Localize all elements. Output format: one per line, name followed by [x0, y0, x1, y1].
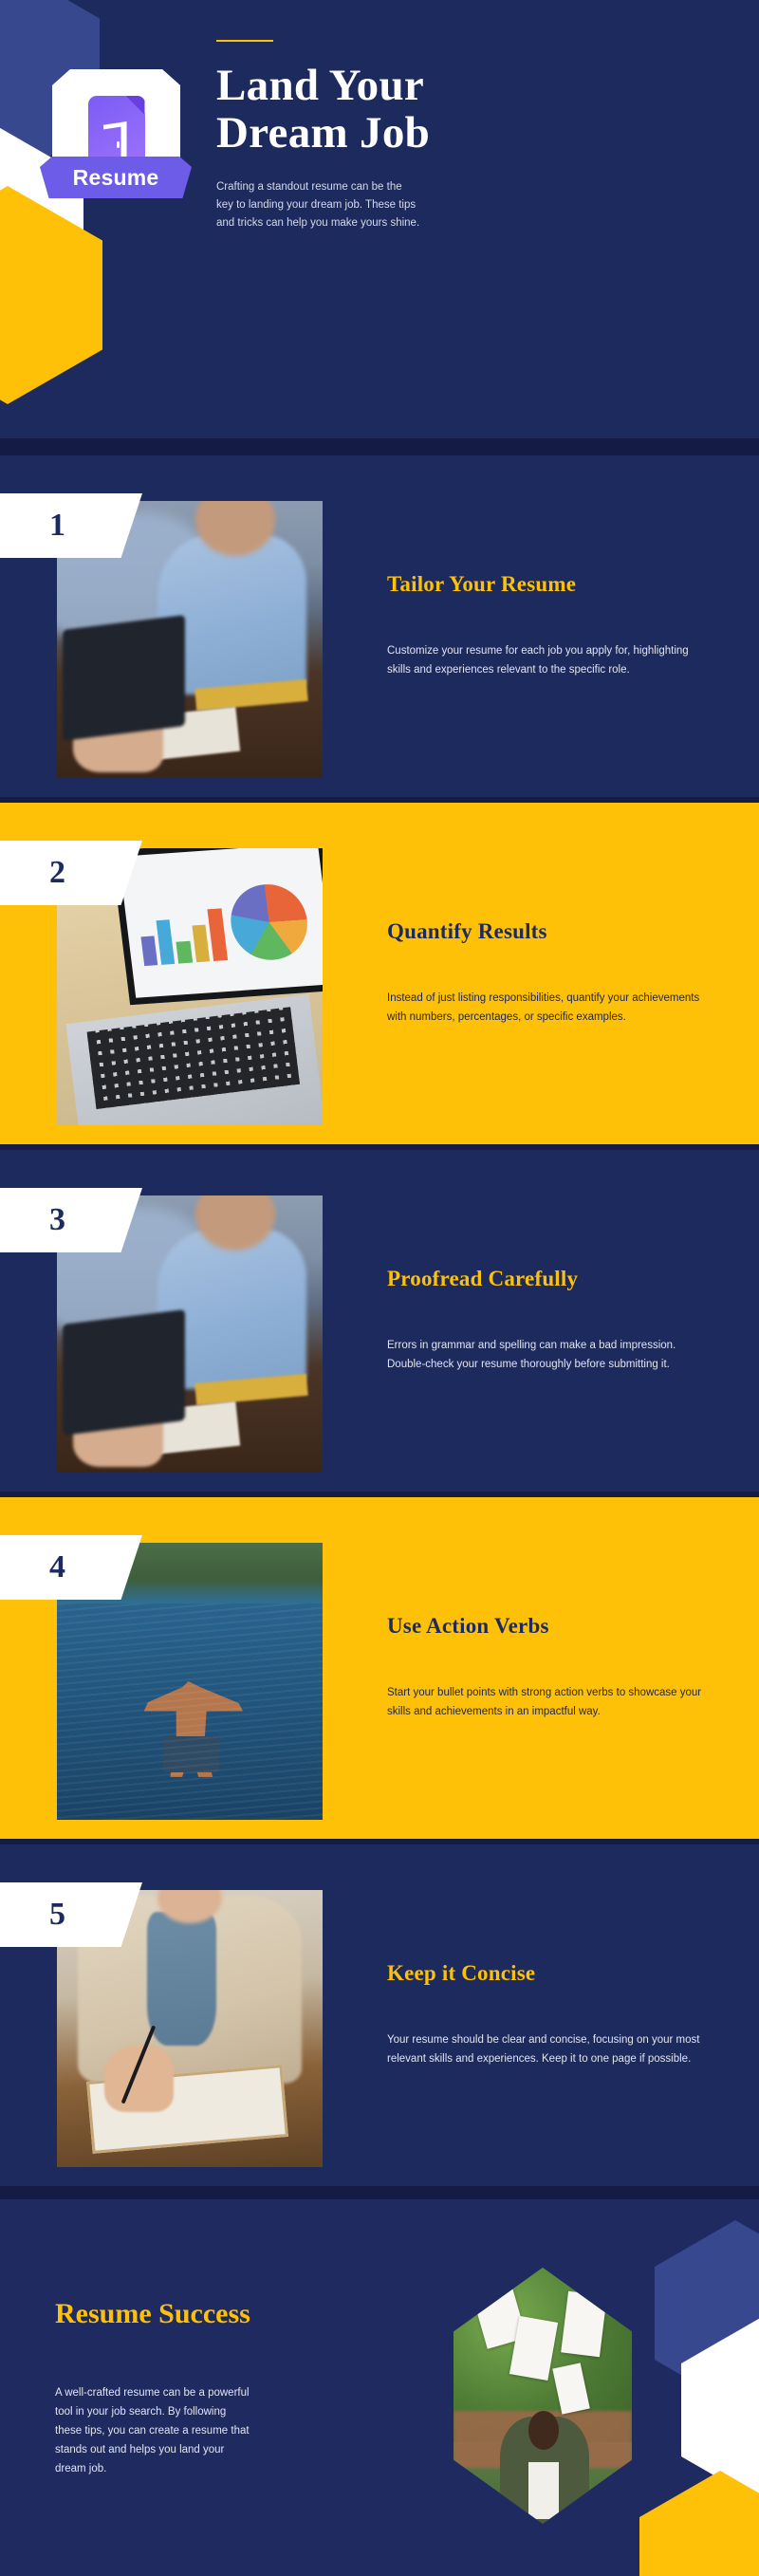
photo-shorts: [163, 1736, 219, 1772]
photo-hand: [73, 1389, 163, 1467]
photo-celebration: [454, 2268, 632, 2524]
photo-shirt: [157, 1229, 306, 1389]
photo-bar-chart: [138, 903, 228, 966]
infographic-page: Resume Land Your Dream Job Crafting a st…: [0, 0, 759, 2576]
photo-paper-sheet: [561, 2291, 607, 2357]
tip-section-2: 2 Quantify Results Instead of just listi…: [0, 803, 759, 1144]
tip-body-1: Tailor Your Resume Customize your resume…: [387, 455, 729, 797]
photo-shirt: [157, 534, 306, 695]
header-subtitle: Crafting a standout resume can be the ke…: [216, 178, 420, 232]
tip-description-4: Start your bullet points with strong act…: [387, 1684, 712, 1722]
tip-body-3: Proofread Carefully Errors in grammar an…: [387, 1150, 729, 1492]
hexagon-decor-footer-yellow: [639, 2471, 759, 2576]
tip-number-3: 3: [49, 1202, 65, 1238]
tip-number-5: 5: [49, 1897, 65, 1933]
tip-title-3: Proofread Carefully: [387, 1267, 712, 1291]
tip-title-4: Use Action Verbs: [387, 1614, 712, 1639]
header-bottom-strip: [0, 438, 759, 455]
tip-body-2: Quantify Results Instead of just listing…: [387, 803, 729, 1144]
footer-photo: [454, 2268, 632, 2524]
footer-section: Resume Success A well-crafted resume can…: [0, 2186, 759, 2576]
photo-hand: [73, 695, 163, 772]
document-door-icon: [88, 96, 145, 166]
header-section: Resume Land Your Dream Job Crafting a st…: [0, 0, 759, 455]
tip-number-2: 2: [49, 855, 65, 891]
tip-body-5: Keep it Concise Your resume should be cl…: [387, 1844, 729, 2186]
tip-title-2: Quantify Results: [387, 919, 712, 944]
title-rule: [216, 40, 273, 42]
photo-pie-chart: [227, 881, 311, 962]
logo-ribbon: Resume: [40, 157, 192, 198]
photo-diver: [142, 1681, 243, 1781]
photo-denim-shirt: [147, 1912, 216, 2045]
tip-section-5: 5 Keep it Concise Your resume should be …: [0, 1844, 759, 2186]
photo-laptop-keyboard: [65, 994, 323, 1125]
footer-title: Resume Success: [55, 2298, 368, 2330]
tip-description-1: Customize your resume for each job you a…: [387, 642, 712, 680]
footer-text-block: Resume Success A well-crafted resume can…: [55, 2186, 368, 2576]
page-title-line1: Land Your: [216, 63, 729, 110]
tip-description-5: Your resume should be clear and concise,…: [387, 2031, 712, 2069]
tip-body-4: Use Action Verbs Start your bullet point…: [387, 1497, 729, 1839]
page-title-line2: Dream Job: [216, 110, 729, 158]
photo-laptop-screen: [111, 848, 323, 1005]
footer-description: A well-crafted resume can be a powerful …: [55, 2383, 254, 2478]
photo-keys: [86, 1008, 300, 1109]
door-knob: [117, 141, 120, 148]
tip-title-1: Tailor Your Resume: [387, 572, 712, 597]
photo-tshirt: [528, 2462, 559, 2518]
tip-section-4: 4 Use Action Verbs Start your bullet poi…: [0, 1497, 759, 1839]
photo-face: [528, 2411, 559, 2450]
page-title: Land Your Dream Job: [216, 63, 729, 158]
logo-text: Resume: [73, 165, 159, 191]
tip-number-1: 1: [49, 508, 65, 544]
hexagon-decor-yellow-left: [0, 186, 102, 404]
tip-title-5: Keep it Concise: [387, 1961, 712, 1986]
tip-description-2: Instead of just listing responsibilities…: [387, 990, 712, 1028]
tip-number-4: 4: [49, 1549, 65, 1585]
tip-number-badge-3: 3: [0, 1188, 142, 1252]
tip-section-3: 3 Proofread Carefully Errors in grammar …: [0, 1150, 759, 1492]
tip-number-badge-2: 2: [0, 841, 142, 905]
tip-description-3: Errors in grammar and spelling can make …: [387, 1337, 712, 1375]
photo-paper-sheet: [552, 2363, 590, 2414]
tip-number-badge-4: 4: [0, 1535, 142, 1600]
tip-number-badge-5: 5: [0, 1882, 142, 1947]
header-text-block: Land Your Dream Job Crafting a standout …: [216, 0, 729, 232]
tip-number-badge-1: 1: [0, 493, 142, 558]
tip-section-1: 1 Tailor Your Resume Customize your resu…: [0, 455, 759, 797]
